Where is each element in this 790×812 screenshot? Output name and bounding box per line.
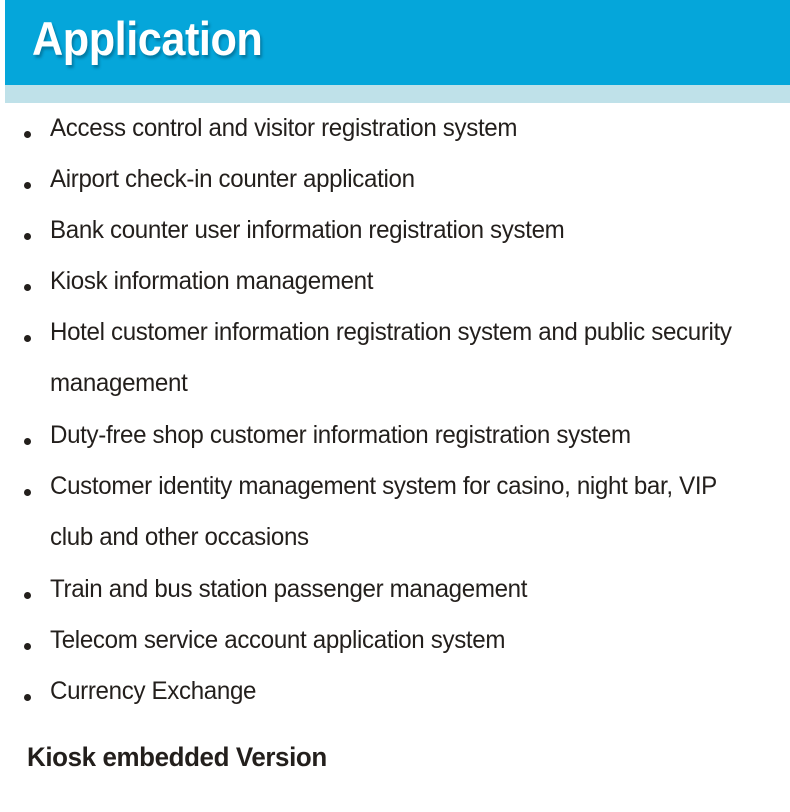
list-item: Train and bus station passenger manageme…	[0, 564, 790, 615]
bullet-dot-icon	[24, 694, 31, 701]
page-title: Application	[32, 11, 262, 67]
bullet-dot-icon	[24, 182, 31, 189]
bullet-dot-icon	[24, 335, 31, 342]
bullet-dot-icon	[24, 233, 31, 240]
bullet-dot-icon	[24, 438, 31, 445]
list-item: Currency Exchange	[0, 666, 790, 717]
list-item-label: Customer identity management system for …	[50, 461, 753, 563]
list-item-label: Train and bus station passenger manageme…	[50, 564, 753, 615]
bullet-dot-icon	[24, 284, 31, 291]
list-item: Access control and visitor registration …	[0, 103, 790, 154]
content-body: Access control and visitor registration …	[0, 103, 790, 812]
list-item-label: Currency Exchange	[50, 666, 753, 717]
list-item-label: Hotel customer information registration …	[50, 307, 753, 409]
bullet-dot-icon	[24, 592, 31, 599]
list-item-label: Bank counter user information registrati…	[50, 205, 753, 256]
list-item: Telecom service account application syst…	[0, 615, 790, 666]
list-item-label: Duty-free shop customer information regi…	[50, 410, 753, 461]
list-item: Bank counter user information registrati…	[0, 205, 790, 256]
list-item-label: Airport check-in counter application	[50, 154, 753, 205]
list-item: Kiosk information management	[0, 256, 790, 307]
list-item: Customer identity management system for …	[0, 461, 790, 564]
bullet-dot-icon	[24, 131, 31, 138]
page-bottom-edge	[0, 806, 790, 812]
list-item-label: Access control and visitor registration …	[50, 103, 753, 154]
bullet-dot-icon	[24, 643, 31, 650]
list-item-label: Telecom service account application syst…	[50, 615, 753, 666]
list-item-label: Kiosk information management	[50, 256, 753, 307]
header-underbar-divider	[5, 85, 790, 103]
bullet-dot-icon	[24, 489, 31, 496]
section-heading: Kiosk embedded Version	[27, 739, 327, 775]
list-item: Duty-free shop customer information regi…	[0, 410, 790, 461]
header-banner: Application	[5, 0, 790, 85]
list-item: Airport check-in counter application	[0, 154, 790, 205]
list-item: Hotel customer information registration …	[0, 307, 790, 410]
application-bullet-list: Access control and visitor registration …	[0, 103, 790, 717]
